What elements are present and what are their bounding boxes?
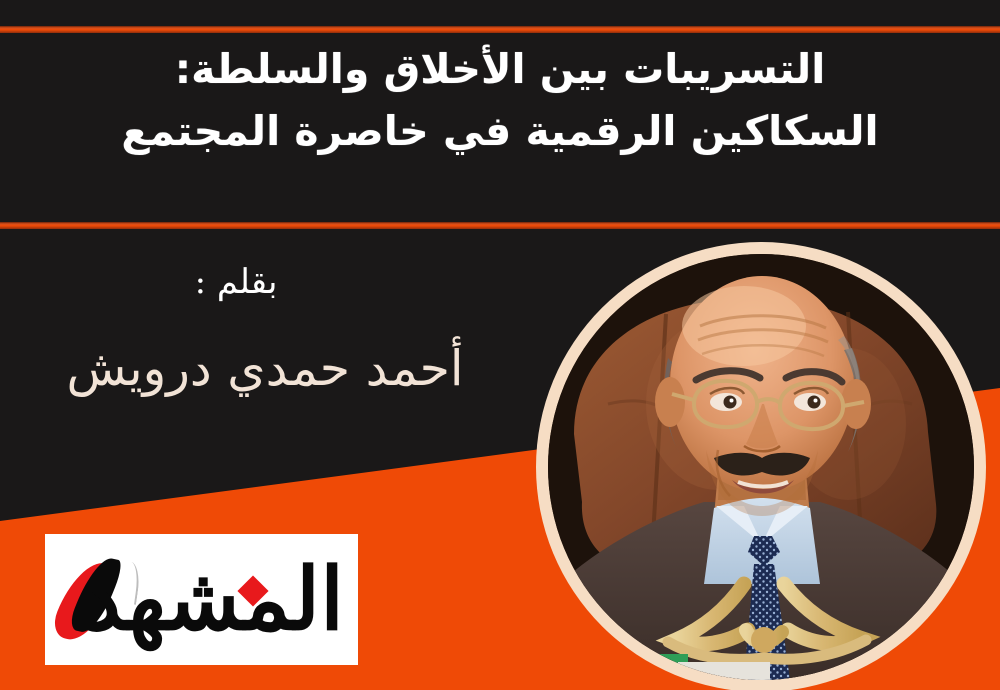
author-portrait xyxy=(542,248,980,686)
byline: بقلم : أحمد حمدي درويش xyxy=(0,258,530,402)
publication-logo[interactable]: المشهد xyxy=(45,534,358,665)
headline-line-1: التسريبات بين الأخلاق والسلطة: xyxy=(36,38,964,100)
byline-author-name: أحمد حمدي درويش xyxy=(0,336,530,402)
page-title: التسريبات بين الأخلاق والسلطة: السكاكين … xyxy=(0,38,1000,162)
avatar xyxy=(548,254,974,680)
headline-line-2: السكاكين الرقمية في خاصرة المجتمع xyxy=(36,100,964,162)
logo-artwork: المشهد xyxy=(45,534,358,665)
bottom-divider-rule xyxy=(0,222,1000,229)
top-divider-rule xyxy=(0,26,1000,33)
byline-label: بقلم : xyxy=(0,258,530,306)
logo-wordmark: المشهد xyxy=(83,557,344,643)
portrait-illustration xyxy=(548,254,974,680)
badge-id-card xyxy=(678,662,770,680)
article-promo-poster: التسريبات بين الأخلاق والسلطة: السكاكين … xyxy=(0,0,1000,690)
